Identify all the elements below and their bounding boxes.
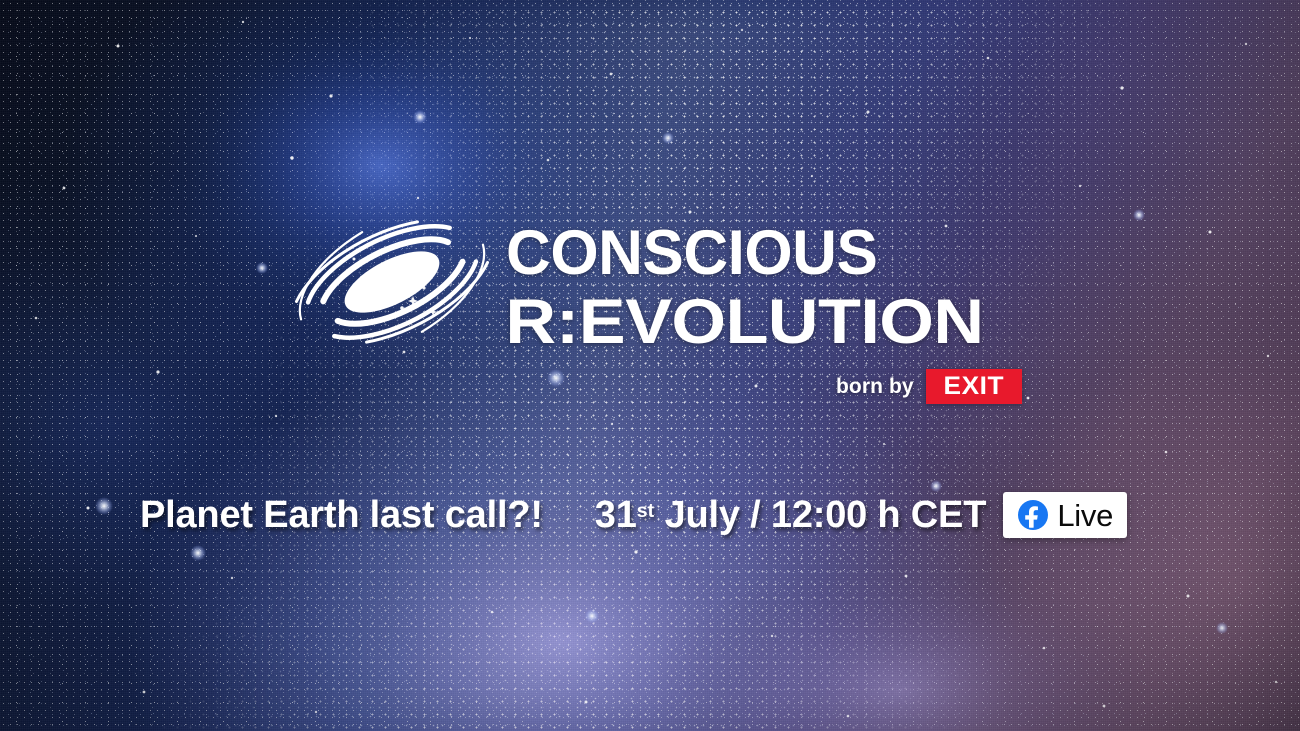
attribution-row: born by EXIT — [836, 369, 1022, 404]
facebook-icon — [1017, 499, 1049, 531]
date-remainder: July / 12:00 h CET — [654, 494, 986, 536]
date-number: 31 — [595, 494, 637, 536]
poster-content: CONSCIOUS Я:EVOLUTION born by EXIT Plane… — [0, 0, 1300, 731]
date-ordinal-suffix: st — [637, 500, 655, 522]
wordmark-colon: : — [556, 287, 579, 357]
wordmark-line-conscious: CONSCIOUS — [506, 222, 1020, 285]
event-datetime-text: 31st July / 12:00 h CET — [595, 496, 986, 534]
born-by-label: born by — [836, 375, 914, 399]
galaxy-spiral-icon — [292, 212, 492, 352]
event-strap-line: Planet Earth last call?! 31st July / 12:… — [140, 492, 1127, 538]
exit-brand-label: EXIT — [943, 372, 1003, 401]
event-promo-poster: CONSCIOUS Я:EVOLUTION born by EXIT Plane… — [0, 0, 1300, 731]
event-wordmark: CONSCIOUS Я:EVOLUTION — [506, 222, 1028, 354]
wordmark-line-revolution: Я:EVOLUTION — [506, 291, 1088, 354]
wordmark-evolution-text: EVOLUTION — [579, 287, 984, 357]
exit-brand-badge[interactable]: EXIT — [926, 369, 1022, 404]
live-label: Live — [1057, 500, 1113, 531]
mirrored-r-glyph: Я — [506, 291, 556, 354]
headline-text: Planet Earth last call?! — [140, 496, 543, 534]
facebook-live-badge[interactable]: Live — [1003, 492, 1127, 538]
